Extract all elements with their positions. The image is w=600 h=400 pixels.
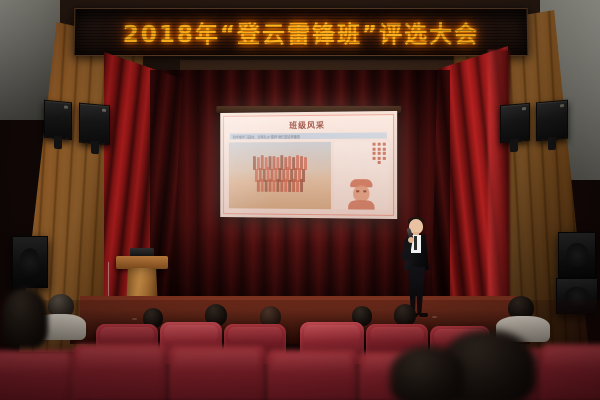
slide-subtitle: 勤学楼学习园地、文明礼仪“雷锋”我们是这样做的 bbox=[230, 132, 387, 139]
photo-person-row bbox=[231, 177, 329, 192]
foreground-audience-head bbox=[390, 346, 464, 400]
presenter-hand bbox=[408, 237, 414, 243]
portrait-eye bbox=[356, 190, 359, 192]
speaker-bracket bbox=[548, 137, 556, 151]
auditorium-photo: 2018年“登云雷锋班”评选大会 班级风采 勤学楼学习园地、文明礼仪“雷锋”我们… bbox=[0, 0, 600, 400]
led-banner: 2018年“登云雷锋班”评选大会 bbox=[74, 8, 529, 56]
portrait-head bbox=[353, 185, 369, 201]
floor-speaker-right-upper bbox=[558, 232, 596, 278]
slide-lei-feng-portrait bbox=[334, 142, 389, 210]
presenter-tie bbox=[414, 236, 417, 250]
speaker-bracket bbox=[54, 136, 62, 150]
wall-speaker-right-2 bbox=[536, 100, 568, 142]
led-banner-text: 2018年“登云雷锋班”评选大会 bbox=[123, 15, 480, 49]
portrait-eye bbox=[363, 190, 366, 192]
portrait-figure bbox=[348, 179, 374, 210]
slide-class-group-photo bbox=[229, 142, 331, 209]
portrait-torso bbox=[348, 200, 374, 209]
slide-body bbox=[229, 142, 389, 210]
seat[interactable] bbox=[72, 344, 168, 400]
calligraphy-column bbox=[383, 143, 386, 165]
wall-speaker-left-1 bbox=[44, 100, 72, 140]
seat[interactable] bbox=[266, 350, 358, 400]
speaker-bracket bbox=[510, 139, 518, 153]
slide: 班级风采 勤学楼学习园地、文明礼仪“雷锋”我们是这样做的 bbox=[223, 114, 394, 216]
foreground-audience-head bbox=[2, 288, 48, 348]
speaker-bracket bbox=[91, 141, 99, 155]
calligraphy-column bbox=[373, 143, 376, 165]
calligraphy-column bbox=[378, 143, 381, 165]
stage-curtain-right-fold bbox=[488, 50, 510, 336]
wall-speaker-left-2 bbox=[79, 103, 110, 146]
floor-speaker-left bbox=[12, 236, 48, 288]
seat[interactable] bbox=[0, 350, 76, 400]
calligraphy-inscription bbox=[337, 143, 386, 165]
seat[interactable] bbox=[168, 346, 266, 400]
projection-screen: 班级风采 勤学楼学习园地、文明礼仪“雷锋”我们是这样做的 bbox=[220, 111, 397, 219]
podium-top-surface bbox=[116, 256, 168, 269]
seat[interactable] bbox=[540, 344, 600, 400]
audience-head bbox=[394, 304, 416, 326]
wall-speaker-right-1 bbox=[500, 103, 530, 144]
slide-title: 班级风采 bbox=[224, 119, 393, 131]
